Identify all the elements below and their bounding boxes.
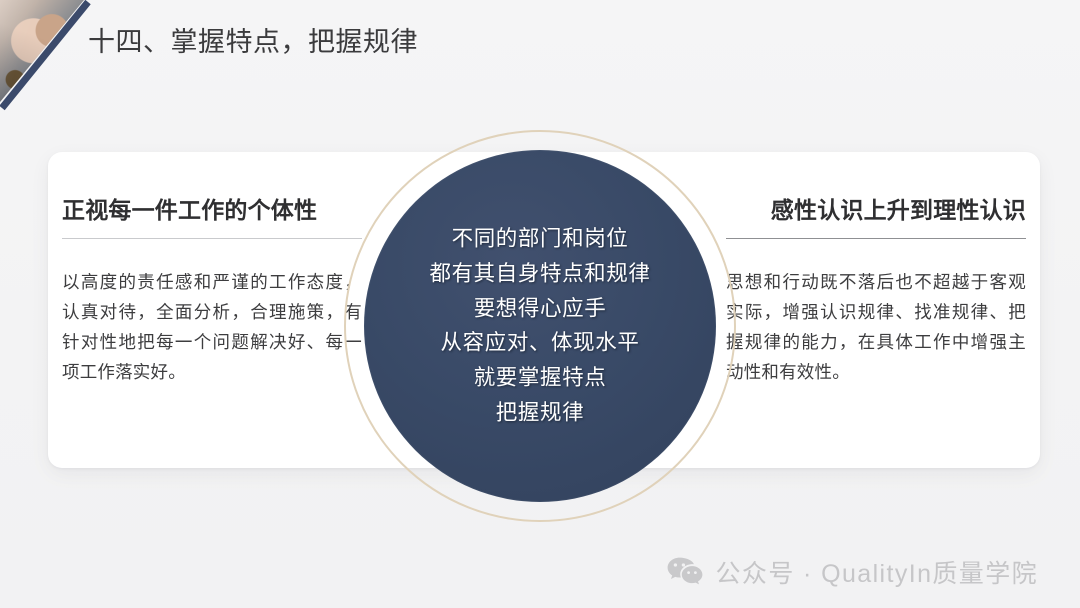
center-circle-text: 不同的部门和岗位 都有其自身特点和规律 要想得心应手 从容应对、体现水平 就要掌…: [364, 222, 716, 431]
wechat-icon: [667, 557, 703, 587]
left-panel: 正视每一件工作的个体性 以高度的责任感和严谨的工作态度，认真对待，全面分析，合理…: [62, 196, 362, 387]
slide-canvas: 十四、掌握特点，把握规律 正视每一件工作的个体性 以高度的责任感和严谨的工作态度…: [0, 0, 1080, 608]
right-panel-title: 感性认识上升到理性认识: [726, 196, 1026, 225]
center-circle: 不同的部门和岗位 都有其自身特点和规律 要想得心应手 从容应对、体现水平 就要掌…: [364, 150, 716, 502]
center-line: 都有其自身特点和规律: [388, 256, 692, 291]
center-line: 把握规律: [388, 396, 692, 431]
right-panel: 感性认识上升到理性认识 思想和行动既不落后也不超越于客观实际，增强认识规律、找准…: [726, 196, 1026, 387]
watermark-text: 公众号 · QualityIn质量学院: [716, 554, 1038, 590]
page-title: 十四、掌握特点，把握规律: [88, 26, 418, 58]
left-panel-divider: [62, 238, 362, 239]
corner-photo-triangle: [0, 0, 84, 102]
right-panel-divider: [726, 238, 1026, 239]
center-line: 要想得心应手: [388, 291, 692, 326]
right-panel-body: 思想和行动既不落后也不超越于客观实际，增强认识规律、找准规律、把握规律的能力，在…: [726, 267, 1026, 387]
corner-photo-overlay: [0, 0, 84, 102]
center-line: 就要掌握特点: [388, 361, 692, 396]
left-panel-title: 正视每一件工作的个体性: [62, 196, 362, 225]
center-line: 不同的部门和岗位: [388, 222, 692, 257]
left-panel-body: 以高度的责任感和严谨的工作态度，认真对待，全面分析，合理施策，有针对性地把每一个…: [62, 267, 362, 387]
footer-watermark: 公众号 · QualityIn质量学院: [667, 554, 1038, 590]
center-line: 从容应对、体现水平: [388, 326, 692, 361]
